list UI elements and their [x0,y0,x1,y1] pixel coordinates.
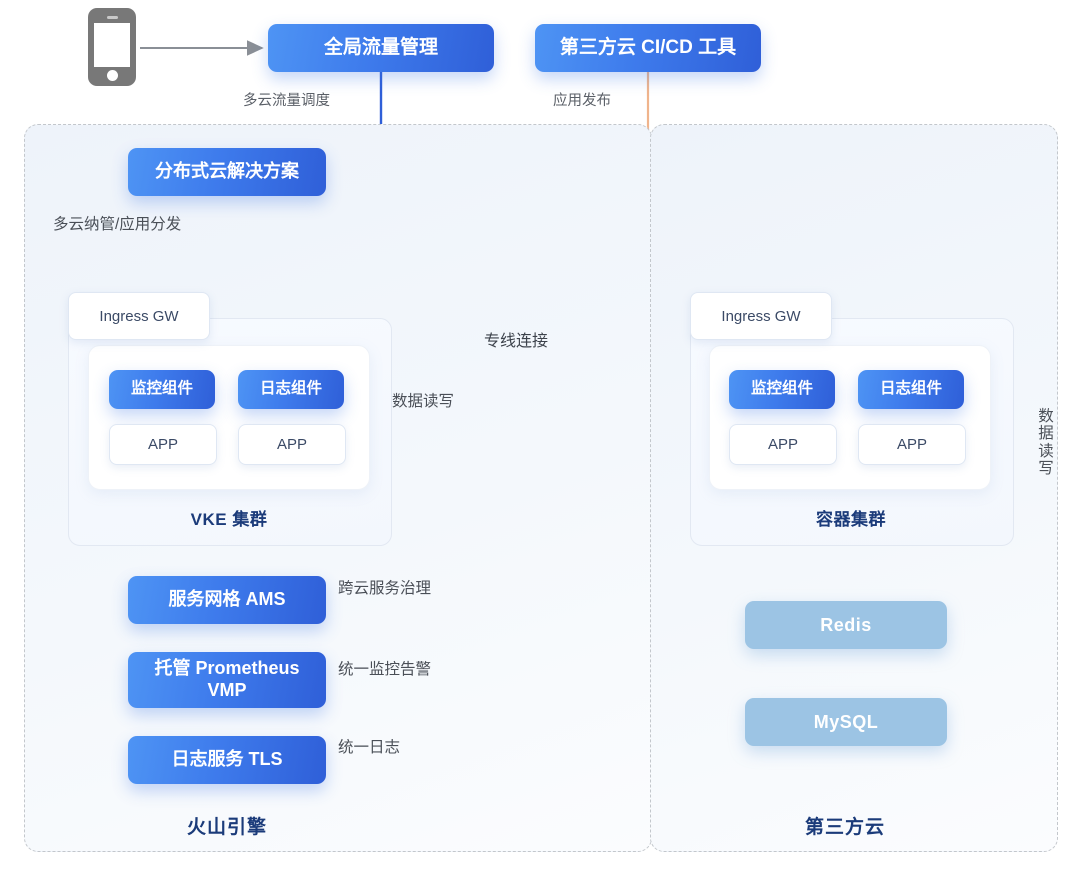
container-cluster-name: 容器集群 [690,505,1012,530]
panel-volcengine-label: 火山引擎 [24,812,430,839]
multicloud-distribute-label: 多云纳管/应用分发 [53,212,181,234]
app-release-label: 应用发布 [553,89,611,110]
vke-cluster-name: VKE 集群 [68,505,390,530]
log-service-tls-box[interactable]: 日志服务 TLS [128,736,326,784]
container-pod-wrapper [709,345,991,490]
container-app-box-2[interactable]: APP [858,424,966,465]
container-log-component-box[interactable]: 日志组件 [858,370,964,409]
container-ingress-gw-box[interactable]: Ingress GW [690,292,832,340]
smartphone-icon [88,8,136,86]
cicd-tool-box[interactable]: 第三方云 CI/CD 工具 [535,24,761,72]
service-mesh-ams-box[interactable]: 服务网格 AMS [128,576,326,624]
vke-app-box-1[interactable]: APP [109,424,217,465]
container-monitor-component-box[interactable]: 监控组件 [729,370,835,409]
vke-log-component-box[interactable]: 日志组件 [238,370,344,409]
vke-ingress-gw-box[interactable]: Ingress GW [68,292,210,340]
redis-box[interactable]: Redis [745,601,947,649]
unified-logging-label: 统一日志 [338,735,400,757]
cross-cloud-governance-label: 跨云服务治理 [338,576,431,598]
mysql-box[interactable]: MySQL [745,698,947,746]
architecture-diagram: 火山引擎 第三方云 全局流量管理 第三方云 CI/CD 工具 多云流量调度 应用… [0,0,1080,871]
vke-data-rw-label: 数据读写 [392,389,454,411]
dedicated-line-label: 专线连接 [484,327,548,351]
panel-thirdparty-cloud-label: 第三方云 [650,812,1040,839]
vke-monitor-component-box[interactable]: 监控组件 [109,370,215,409]
vke-app-box-2[interactable]: APP [238,424,346,465]
vke-pod-wrapper [88,345,370,490]
managed-prometheus-vmp-box[interactable]: 托管 Prometheus VMP [128,652,326,708]
container-data-rw-label: 数据读写 [1036,408,1056,477]
traffic-schedule-label: 多云流量调度 [243,89,330,110]
distributed-cloud-solution-box[interactable]: 分布式云解决方案 [128,148,326,196]
global-traffic-management-box[interactable]: 全局流量管理 [268,24,494,72]
unified-monitoring-alert-label: 统一监控告警 [338,657,431,679]
container-app-box-1[interactable]: APP [729,424,837,465]
